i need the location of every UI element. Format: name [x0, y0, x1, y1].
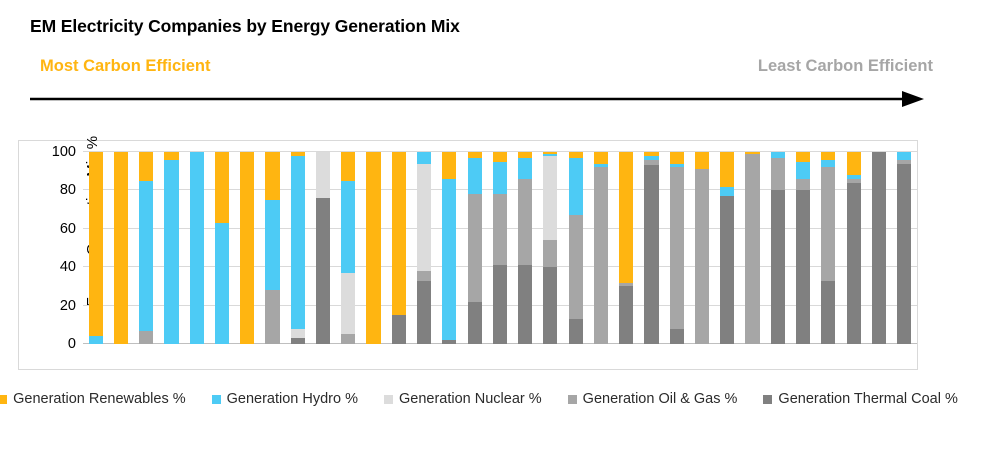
bar-stack[interactable] — [468, 152, 482, 344]
bar-segment[interactable] — [771, 190, 785, 344]
bar-group[interactable] — [614, 152, 639, 344]
bar-stack[interactable] — [291, 152, 305, 344]
bar-segment[interactable] — [417, 281, 431, 344]
bar-group[interactable] — [689, 152, 714, 344]
bar-group[interactable] — [235, 152, 260, 344]
bar-segment[interactable] — [493, 194, 507, 265]
page-title: EM Electricity Companies by Energy Gener… — [30, 16, 460, 37]
y-axis-tick-label: 60 — [60, 221, 76, 237]
bar-stack[interactable] — [543, 152, 557, 344]
bar-group[interactable] — [411, 152, 436, 344]
bar-stack[interactable] — [720, 152, 734, 344]
bar-segment[interactable] — [872, 152, 886, 344]
bar-segment[interactable] — [164, 152, 178, 160]
bar-segment[interactable] — [341, 334, 355, 344]
bar-stack[interactable] — [215, 152, 229, 344]
bar-series-group — [83, 152, 917, 344]
bar-stack[interactable] — [89, 152, 103, 344]
bar-group[interactable] — [841, 152, 866, 344]
bar-segment[interactable] — [594, 152, 608, 164]
bar-segment[interactable] — [796, 152, 810, 162]
bar-segment[interactable] — [897, 160, 911, 164]
bar-segment[interactable] — [417, 271, 431, 281]
bar-segment[interactable] — [341, 152, 355, 181]
legend-label: Generation Oil & Gas % — [583, 391, 738, 407]
bar-segment[interactable] — [594, 167, 608, 344]
bar-segment[interactable] — [291, 152, 305, 156]
plot-area: 020406080100 — [83, 152, 917, 344]
bar-group[interactable] — [664, 152, 689, 344]
bar-segment[interactable] — [821, 281, 835, 344]
bar-segment[interactable] — [493, 162, 507, 195]
bar-segment[interactable] — [695, 169, 709, 344]
legend-item[interactable]: Generation Hydro % — [212, 391, 358, 407]
bar-stack[interactable] — [240, 152, 254, 344]
bar-segment[interactable] — [265, 290, 279, 344]
bar-group[interactable] — [209, 152, 234, 344]
bar-segment[interactable] — [265, 152, 279, 200]
bar-segment[interactable] — [644, 152, 658, 156]
bar-segment[interactable] — [644, 165, 658, 344]
bar-segment[interactable] — [114, 152, 128, 344]
bar-stack[interactable] — [695, 152, 709, 344]
bar-group[interactable] — [285, 152, 310, 344]
bar-segment[interactable] — [670, 329, 684, 344]
bar-segment[interactable] — [240, 152, 254, 344]
bar-segment[interactable] — [771, 158, 785, 191]
bar-segment[interactable] — [392, 152, 406, 315]
bar-segment[interactable] — [468, 158, 482, 194]
bar-stack[interactable] — [897, 152, 911, 344]
bar-segment[interactable] — [89, 152, 103, 336]
bar-group[interactable] — [740, 152, 765, 344]
legend-swatch-icon — [212, 395, 221, 404]
bar-group[interactable] — [538, 152, 563, 344]
legend-swatch-icon — [0, 395, 7, 404]
bar-segment[interactable] — [468, 194, 482, 302]
bar-stack[interactable] — [114, 152, 128, 344]
legend-label: Generation Nuclear % — [399, 391, 542, 407]
bar-stack[interactable] — [619, 152, 633, 344]
y-axis-tick-label: 20 — [60, 298, 76, 314]
bar-segment[interactable] — [442, 179, 456, 340]
bar-segment[interactable] — [796, 179, 810, 191]
bar-segment[interactable] — [139, 152, 153, 181]
bar-segment[interactable] — [442, 340, 456, 344]
bar-segment[interactable] — [619, 286, 633, 344]
bar-group[interactable] — [462, 152, 487, 344]
bar-stack[interactable] — [316, 152, 330, 344]
chart-container: Energy Generation Mix % 020406080100 — [18, 140, 918, 370]
bar-segment[interactable] — [139, 331, 153, 344]
y-axis-tick-label: 80 — [60, 182, 76, 198]
bar-segment[interactable] — [745, 152, 759, 154]
bar-segment[interactable] — [771, 152, 785, 158]
bar-segment[interactable] — [493, 152, 507, 162]
bar-segment[interactable] — [316, 198, 330, 344]
bar-segment[interactable] — [291, 329, 305, 339]
bar-segment[interactable] — [720, 187, 734, 197]
bar-stack[interactable] — [164, 152, 178, 344]
bar-segment[interactable] — [543, 240, 557, 267]
bar-stack[interactable] — [796, 152, 810, 344]
bar-segment[interactable] — [644, 156, 658, 160]
bar-group[interactable] — [765, 152, 790, 344]
bar-segment[interactable] — [366, 152, 380, 344]
bar-stack[interactable] — [417, 152, 431, 344]
legend-label: Generation Thermal Coal % — [778, 391, 957, 407]
bar-segment[interactable] — [543, 156, 557, 240]
bar-stack[interactable] — [493, 152, 507, 344]
bar-segment[interactable] — [569, 319, 583, 344]
bar-group[interactable] — [563, 152, 588, 344]
bar-segment[interactable] — [518, 158, 532, 179]
bar-segment[interactable] — [392, 315, 406, 344]
bar-group[interactable] — [487, 152, 512, 344]
bar-segment[interactable] — [897, 164, 911, 344]
bar-stack[interactable] — [265, 152, 279, 344]
legend-label: Generation Hydro % — [227, 391, 358, 407]
bar-group[interactable] — [639, 152, 664, 344]
bar-segment[interactable] — [569, 158, 583, 216]
bar-segment[interactable] — [720, 196, 734, 344]
bar-segment[interactable] — [670, 167, 684, 328]
bar-segment[interactable] — [847, 152, 861, 175]
bar-segment[interactable] — [190, 152, 204, 344]
bar-group[interactable] — [892, 152, 917, 344]
legend-label: Generation Renewables % — [13, 391, 186, 407]
bar-segment[interactable] — [745, 154, 759, 344]
bar-segment[interactable] — [215, 152, 229, 223]
bar-group[interactable] — [386, 152, 411, 344]
y-axis-tick-label: 0 — [68, 336, 76, 352]
legend-swatch-icon — [763, 395, 772, 404]
bar-segment[interactable] — [518, 265, 532, 344]
bar-segment[interactable] — [468, 302, 482, 344]
bar-segment[interactable] — [291, 156, 305, 329]
bar-group[interactable] — [866, 152, 891, 344]
most-carbon-efficient-label: Most Carbon Efficient — [40, 57, 211, 76]
bar-stack[interactable] — [442, 152, 456, 344]
bar-stack[interactable] — [139, 152, 153, 344]
bar-stack[interactable] — [518, 152, 532, 344]
legend-item[interactable]: Generation Renewables % — [0, 391, 186, 407]
bar-segment[interactable] — [569, 215, 583, 319]
bar-group[interactable] — [336, 152, 361, 344]
legend-item[interactable]: Generation Thermal Coal % — [763, 391, 957, 407]
bar-segment[interactable] — [543, 154, 557, 156]
right-arrow-icon — [30, 88, 925, 110]
bar-segment[interactable] — [821, 167, 835, 280]
bar-segment[interactable] — [847, 183, 861, 344]
bar-group[interactable] — [513, 152, 538, 344]
bar-group[interactable] — [816, 152, 841, 344]
bar-segment[interactable] — [518, 179, 532, 265]
bar-segment[interactable] — [821, 160, 835, 168]
bar-segment[interactable] — [215, 223, 229, 344]
bar-segment[interactable] — [619, 283, 633, 287]
bar-stack[interactable] — [847, 152, 861, 344]
bar-group[interactable] — [260, 152, 285, 344]
bar-segment[interactable] — [265, 200, 279, 290]
bar-segment[interactable] — [796, 190, 810, 344]
bar-group[interactable] — [83, 152, 108, 344]
bar-group[interactable] — [134, 152, 159, 344]
bar-segment[interactable] — [670, 164, 684, 168]
bar-stack[interactable] — [771, 152, 785, 344]
bar-segment[interactable] — [695, 152, 709, 169]
chart-legend: Generation Renewables %Generation Hydro … — [18, 388, 938, 410]
bar-segment[interactable] — [417, 164, 431, 272]
bar-stack[interactable] — [745, 152, 759, 344]
bar-stack[interactable] — [594, 152, 608, 344]
legend-swatch-icon — [384, 395, 393, 404]
bar-segment[interactable] — [417, 152, 431, 164]
bar-segment[interactable] — [897, 152, 911, 160]
bar-group[interactable] — [715, 152, 740, 344]
y-axis-tick-label: 100 — [52, 144, 76, 160]
bar-segment[interactable] — [821, 152, 835, 160]
bar-segment[interactable] — [291, 338, 305, 344]
bar-segment[interactable] — [619, 152, 633, 283]
bar-segment[interactable] — [796, 162, 810, 179]
bar-segment[interactable] — [316, 152, 330, 198]
bar-stack[interactable] — [341, 152, 355, 344]
legend-swatch-icon — [568, 395, 577, 404]
bar-segment[interactable] — [341, 273, 355, 334]
bar-segment[interactable] — [543, 267, 557, 344]
bar-stack[interactable] — [872, 152, 886, 344]
legend-item[interactable]: Generation Nuclear % — [384, 391, 542, 407]
bar-group[interactable] — [588, 152, 613, 344]
bar-segment[interactable] — [670, 152, 684, 164]
bar-segment[interactable] — [720, 152, 734, 187]
bar-group[interactable] — [310, 152, 335, 344]
legend-item[interactable]: Generation Oil & Gas % — [568, 391, 738, 407]
bar-segment[interactable] — [442, 152, 456, 179]
bar-segment[interactable] — [847, 179, 861, 183]
bar-group[interactable] — [108, 152, 133, 344]
bar-stack[interactable] — [644, 152, 658, 344]
bar-segment[interactable] — [543, 152, 557, 154]
bar-segment[interactable] — [89, 336, 103, 344]
bar-segment[interactable] — [847, 175, 861, 179]
bar-stack[interactable] — [821, 152, 835, 344]
y-axis-tick-label: 40 — [60, 259, 76, 275]
bar-segment[interactable] — [468, 152, 482, 158]
bar-stack[interactable] — [392, 152, 406, 344]
bar-segment[interactable] — [644, 160, 658, 166]
bar-stack[interactable] — [670, 152, 684, 344]
bar-stack[interactable] — [190, 152, 204, 344]
bar-segment[interactable] — [594, 164, 608, 168]
bar-segment[interactable] — [164, 160, 178, 344]
bar-group[interactable] — [361, 152, 386, 344]
bar-segment[interactable] — [341, 181, 355, 273]
bar-group[interactable] — [159, 152, 184, 344]
bar-segment[interactable] — [139, 181, 153, 331]
bar-segment[interactable] — [569, 152, 583, 158]
bar-group[interactable] — [184, 152, 209, 344]
bar-group[interactable] — [437, 152, 462, 344]
bar-segment[interactable] — [493, 265, 507, 344]
bar-stack[interactable] — [569, 152, 583, 344]
bar-stack[interactable] — [366, 152, 380, 344]
bar-segment[interactable] — [518, 152, 532, 158]
bar-group[interactable] — [790, 152, 815, 344]
least-carbon-efficient-label: Least Carbon Efficient — [758, 57, 933, 76]
